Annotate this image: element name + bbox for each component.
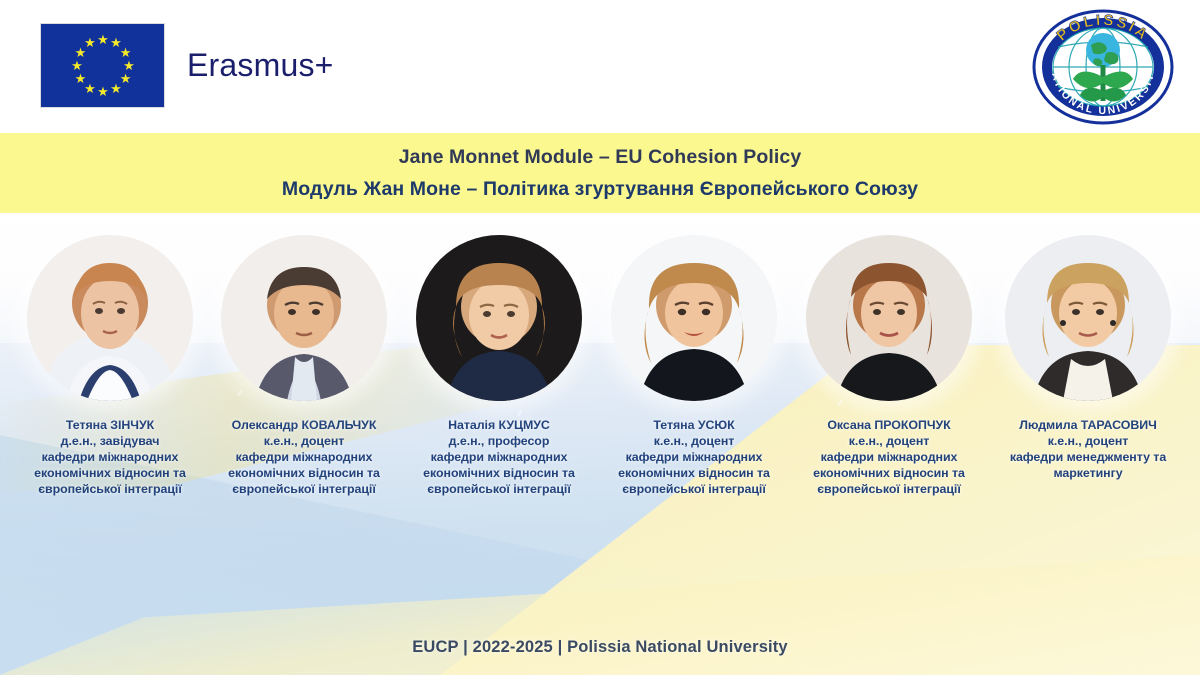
eu-flag-icon: ★★★★★★★★★★★★	[40, 23, 165, 108]
person-department: кафедри міжнародних економічних відносин…	[791, 449, 987, 497]
person-card: Олександр КОВАЛЬЧУК к.е.н., доцент кафед…	[206, 235, 402, 497]
title-english: Jane Monnet Module – EU Cohesion Policy	[399, 146, 802, 169]
person-name: Тетяна ЗІНЧУК	[12, 417, 208, 433]
eu-star-icon: ★	[84, 37, 96, 49]
polissia-university-logo: POLISSIA NATIONAL UNIVERSITY	[1028, 5, 1178, 127]
eu-star-icon: ★	[74, 73, 86, 85]
erasmus-wordmark: Erasmus+	[187, 47, 334, 84]
person-name: Наталія КУЦМУС	[401, 417, 597, 433]
person-caption: Наталія КУЦМУС д.е.н., професор кафедри …	[401, 417, 597, 497]
person-role: к.е.н., доцент	[596, 433, 792, 449]
person-department: кафедри менеджменту та маркетингу	[990, 449, 1186, 481]
avatar	[416, 235, 582, 401]
person-card: Тетяна УСЮК к.е.н., доцент кафедри міжна…	[596, 235, 792, 497]
person-caption: Тетяна ЗІНЧУК д.е.н., завідувач кафедри …	[12, 417, 208, 497]
title-ukrainian: Модуль Жан Моне – Політика згуртування Є…	[282, 178, 918, 201]
person-role: к.е.н., доцент	[990, 433, 1186, 449]
person-department: кафедри міжнародних економічних відносин…	[12, 449, 208, 497]
person-card: Тетяна ЗІНЧУК д.е.н., завідувач кафедри …	[12, 235, 208, 497]
footer-bar: EUCP | 2022-2025 | Polissia National Uni…	[0, 619, 1200, 675]
footer-text: EUCP | 2022-2025 | Polissia National Uni…	[412, 638, 787, 657]
erasmus-logo: ★★★★★★★★★★★★ Erasmus+	[40, 23, 334, 108]
eu-star-icon: ★	[71, 60, 83, 72]
person-caption: Оксана ПРОКОПЧУК к.е.н., доцент кафедри …	[791, 417, 987, 497]
avatar	[27, 235, 193, 401]
person-card: Наталія КУЦМУС д.е.н., професор кафедри …	[401, 235, 597, 497]
eu-star-icon: ★	[97, 86, 109, 98]
person-name: Оксана ПРОКОПЧУК	[791, 417, 987, 433]
person-role: д.е.н., завідувач	[12, 433, 208, 449]
person-caption: Людмила ТАРАСОВИЧ к.е.н., доцент кафедри…	[990, 417, 1186, 481]
person-department: кафедри міжнародних економічних відносин…	[596, 449, 792, 497]
people-row: Тетяна ЗІНЧУК д.е.н., завідувач кафедри …	[0, 213, 1200, 675]
person-department: кафедри міжнародних економічних відносин…	[206, 449, 402, 497]
person-name: Людмила ТАРАСОВИЧ	[990, 417, 1186, 433]
person-role: д.е.н., професор	[401, 433, 597, 449]
person-card: Оксана ПРОКОПЧУК к.е.н., доцент кафедри …	[791, 235, 987, 497]
header-bar: ★★★★★★★★★★★★ Erasmus+	[0, 0, 1200, 133]
eu-star-icon: ★	[110, 83, 122, 95]
title-banner: Jane Monnet Module – EU Cohesion Policy …	[0, 133, 1200, 213]
poster-root: ★★★★★★★★★★★★ Erasmus+	[0, 0, 1200, 675]
person-caption: Олександр КОВАЛЬЧУК к.е.н., доцент кафед…	[206, 417, 402, 497]
avatar	[806, 235, 972, 401]
person-caption: Тетяна УСЮК к.е.н., доцент кафедри міжна…	[596, 417, 792, 497]
eu-star-icon: ★	[97, 34, 109, 46]
avatar	[221, 235, 387, 401]
person-name: Олександр КОВАЛЬЧУК	[206, 417, 402, 433]
person-role: к.е.н., доцент	[791, 433, 987, 449]
person-name: Тетяна УСЮК	[596, 417, 792, 433]
person-department: кафедри міжнародних економічних відносин…	[401, 449, 597, 497]
person-card: Людмила ТАРАСОВИЧ к.е.н., доцент кафедри…	[990, 235, 1186, 481]
avatar	[1005, 235, 1171, 401]
person-role: к.е.н., доцент	[206, 433, 402, 449]
avatar	[611, 235, 777, 401]
